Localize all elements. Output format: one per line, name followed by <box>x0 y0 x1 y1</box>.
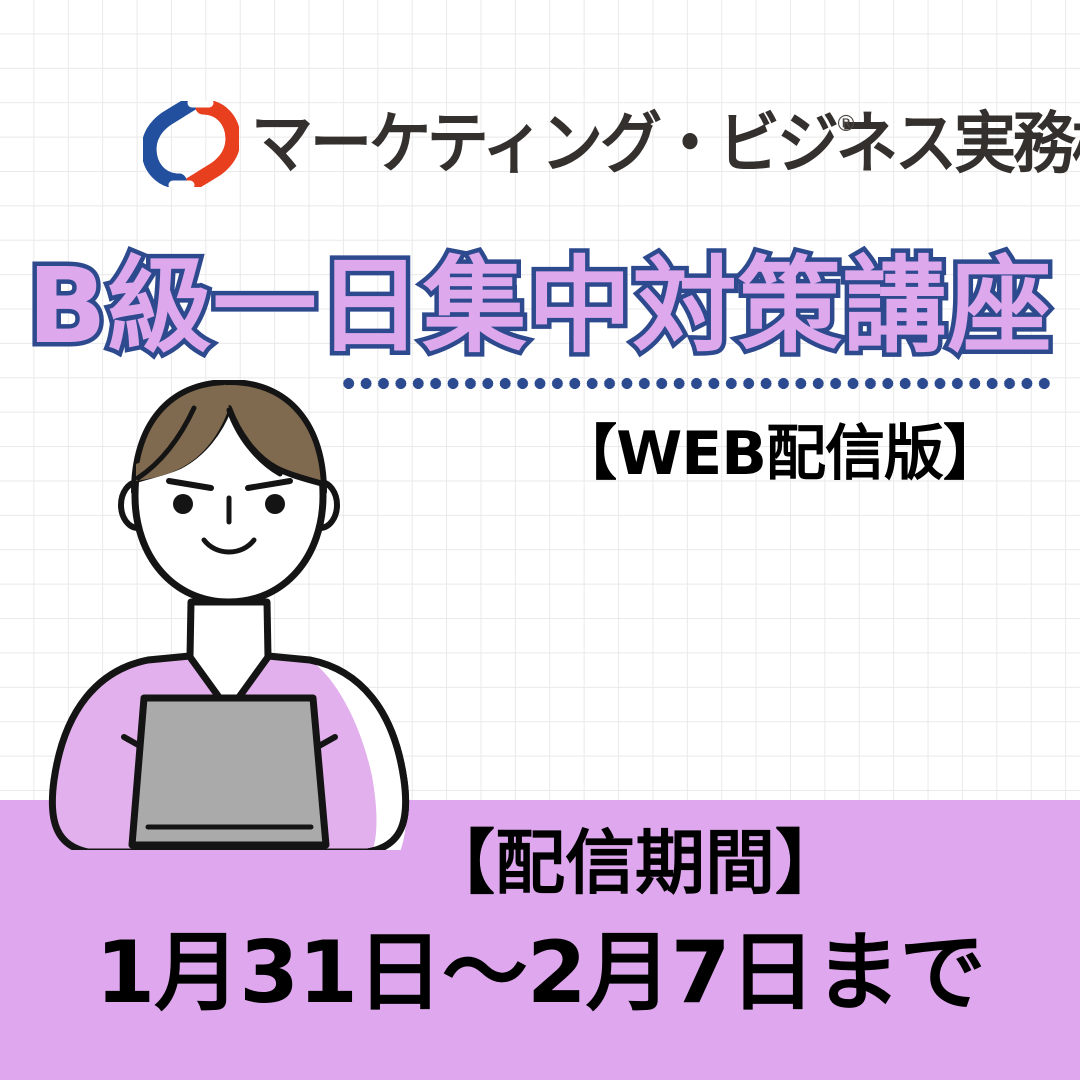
schedule-range: 1月31日〜2月7日まで <box>0 930 1080 1016</box>
page-title: B級一日集中対策講座 <box>0 248 1080 364</box>
schedule-label: 【配信期間】 <box>0 828 1080 898</box>
brand-lockup: マーケティング・ビジネス実務検定 <box>143 104 1080 184</box>
format-badge: 【WEB配信版】 <box>0 424 1080 484</box>
dotted-divider <box>340 378 1052 389</box>
brand-name: マーケティング・ビジネス実務検定 <box>251 111 1080 178</box>
registered-trademark-mark: ® <box>835 112 857 137</box>
interlocking-hooks-logo-icon <box>143 101 239 187</box>
poster-canvas: マーケティング・ビジネス実務検定 ® B級一日集中対策講座 【WEB配信版】 【… <box>0 0 1080 1080</box>
